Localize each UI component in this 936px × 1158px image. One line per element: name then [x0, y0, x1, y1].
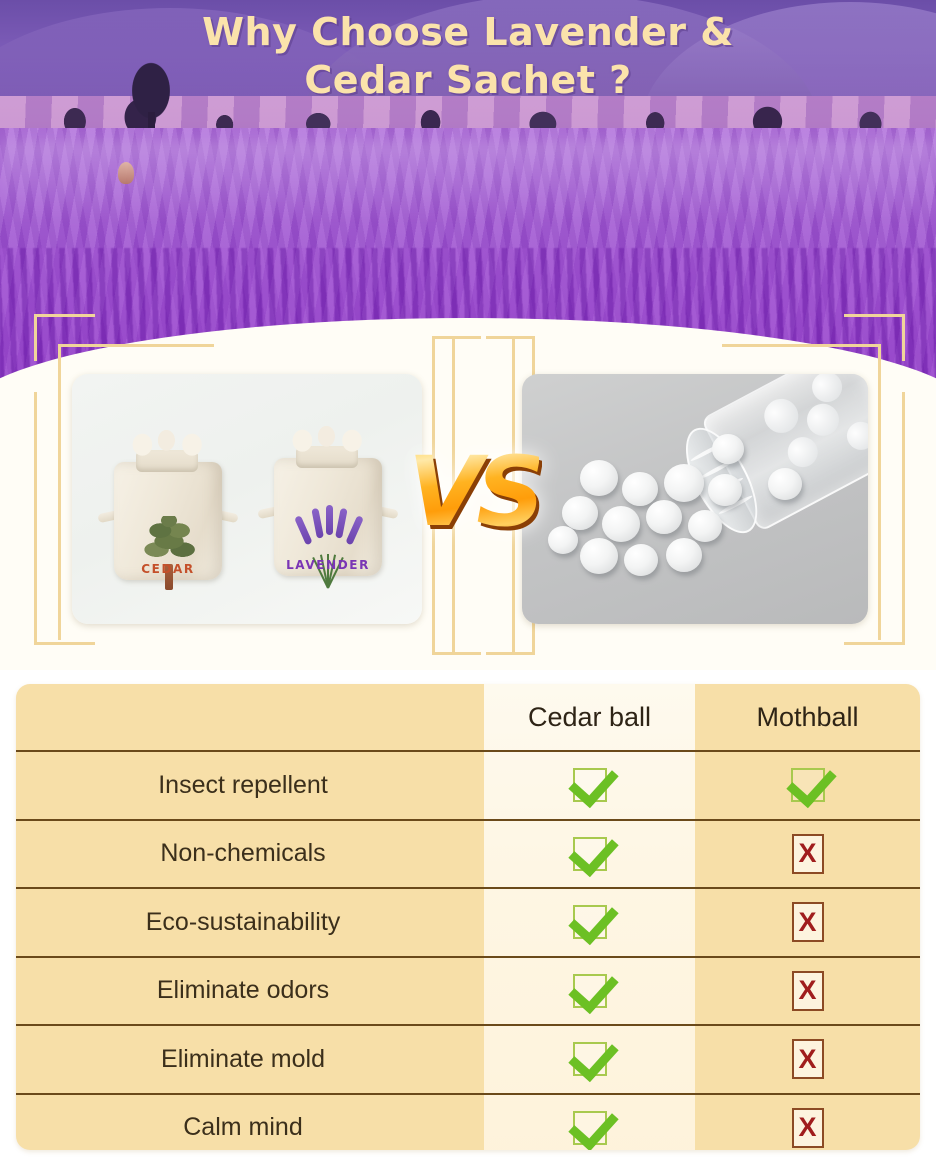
check-icon — [791, 768, 825, 802]
mothball — [580, 460, 618, 496]
check-icon — [573, 1111, 607, 1145]
title-line-2: Cedar Sachet ? — [0, 56, 936, 104]
check-icon — [573, 837, 607, 871]
mothball — [664, 464, 704, 502]
mothball-in-jar — [782, 432, 823, 473]
bag-ruffle-top — [288, 422, 368, 456]
table-row: Calm mind X — [16, 1093, 920, 1151]
check-icon — [573, 1042, 607, 1076]
lavender-sachet-bag: LAVENDER — [274, 422, 382, 582]
cross-icon: X — [792, 1108, 824, 1148]
mothball — [548, 526, 578, 554]
table-row: Non-chemicals X — [16, 819, 920, 888]
cedar-bag-label: CEDAR — [114, 562, 222, 576]
lavender-flower — [294, 515, 313, 545]
mothball — [580, 538, 618, 574]
mothball — [712, 434, 744, 464]
lavender-flower — [311, 508, 324, 539]
mothball-value: X — [695, 1039, 920, 1079]
cross-icon: X — [792, 971, 824, 1011]
mothball — [646, 500, 682, 534]
lavender-flower — [345, 515, 364, 545]
mothball — [768, 468, 802, 500]
feature-label: Eco-sustainability — [16, 908, 484, 937]
lavender-sprig-icon — [300, 508, 358, 588]
page-title: Why Choose Lavender & Cedar Sachet ? — [0, 8, 936, 104]
feature-label: Eliminate odors — [16, 976, 484, 1005]
table-row: Eliminate mold X — [16, 1024, 920, 1093]
table-header-row: Cedar ball Mothball — [16, 684, 920, 750]
cedar-ball-value — [484, 837, 695, 871]
mothball — [602, 506, 640, 542]
lavender-haze — [0, 140, 936, 220]
cross-icon: X — [792, 834, 824, 874]
mothball-value: X — [695, 902, 920, 942]
cedar-ball-value — [484, 1111, 695, 1145]
comparison-table: Cedar ball Mothball Insect repellent Non… — [16, 684, 920, 1150]
mothball-value — [695, 768, 920, 802]
sachet-product-photo: CEDAR LAVENDE — [72, 374, 422, 624]
table-row: Eliminate odors X — [16, 956, 920, 1025]
cedar-ball-value — [484, 1042, 695, 1076]
cedar-ball-value — [484, 974, 695, 1008]
check-icon — [573, 974, 607, 1008]
mothball — [708, 474, 742, 506]
bag-ruffle-top — [128, 426, 208, 460]
mothball-in-jar — [807, 374, 848, 407]
mothball-in-jar — [842, 417, 868, 455]
mothball — [622, 472, 658, 506]
table-row: Insect repellent — [16, 750, 920, 819]
lavender-flower — [335, 508, 348, 539]
mothball-value: X — [695, 971, 920, 1011]
cedar-sachet-bag: CEDAR — [114, 426, 222, 586]
header-mothball: Mothball — [695, 702, 920, 733]
check-icon — [573, 768, 607, 802]
cross-icon: X — [792, 1039, 824, 1079]
cross-icon: X — [792, 902, 824, 942]
lavender-bag-label: LAVENDER — [274, 558, 382, 572]
mothball-value: X — [695, 834, 920, 874]
feature-label: Calm mind — [16, 1113, 484, 1142]
mothball — [666, 538, 702, 572]
table-row: Eco-sustainability X — [16, 887, 920, 956]
mothball — [688, 510, 722, 542]
feature-label: Eliminate mold — [16, 1045, 484, 1074]
header-cedar-ball: Cedar ball — [484, 702, 695, 733]
feature-label: Non-chemicals — [16, 839, 484, 868]
mothball-in-jar — [758, 393, 804, 439]
vs-badge: VS — [408, 444, 539, 540]
lavender-flower — [326, 505, 333, 535]
mothball — [562, 496, 598, 530]
check-icon — [573, 905, 607, 939]
mothball-product-photo — [522, 374, 868, 624]
mothball-value: X — [695, 1108, 920, 1148]
cedar-ball-value — [484, 768, 695, 802]
cedar-tree-icon — [138, 516, 200, 590]
title-line-1: Why Choose Lavender & — [0, 8, 936, 56]
cedar-ball-value — [484, 905, 695, 939]
person-in-field — [118, 162, 134, 184]
mothball-in-jar — [801, 398, 844, 441]
mothball — [624, 544, 658, 576]
feature-label: Insect repellent — [16, 771, 484, 800]
infographic-page: Why Choose Lavender & Cedar Sachet ? — [0, 0, 936, 1158]
